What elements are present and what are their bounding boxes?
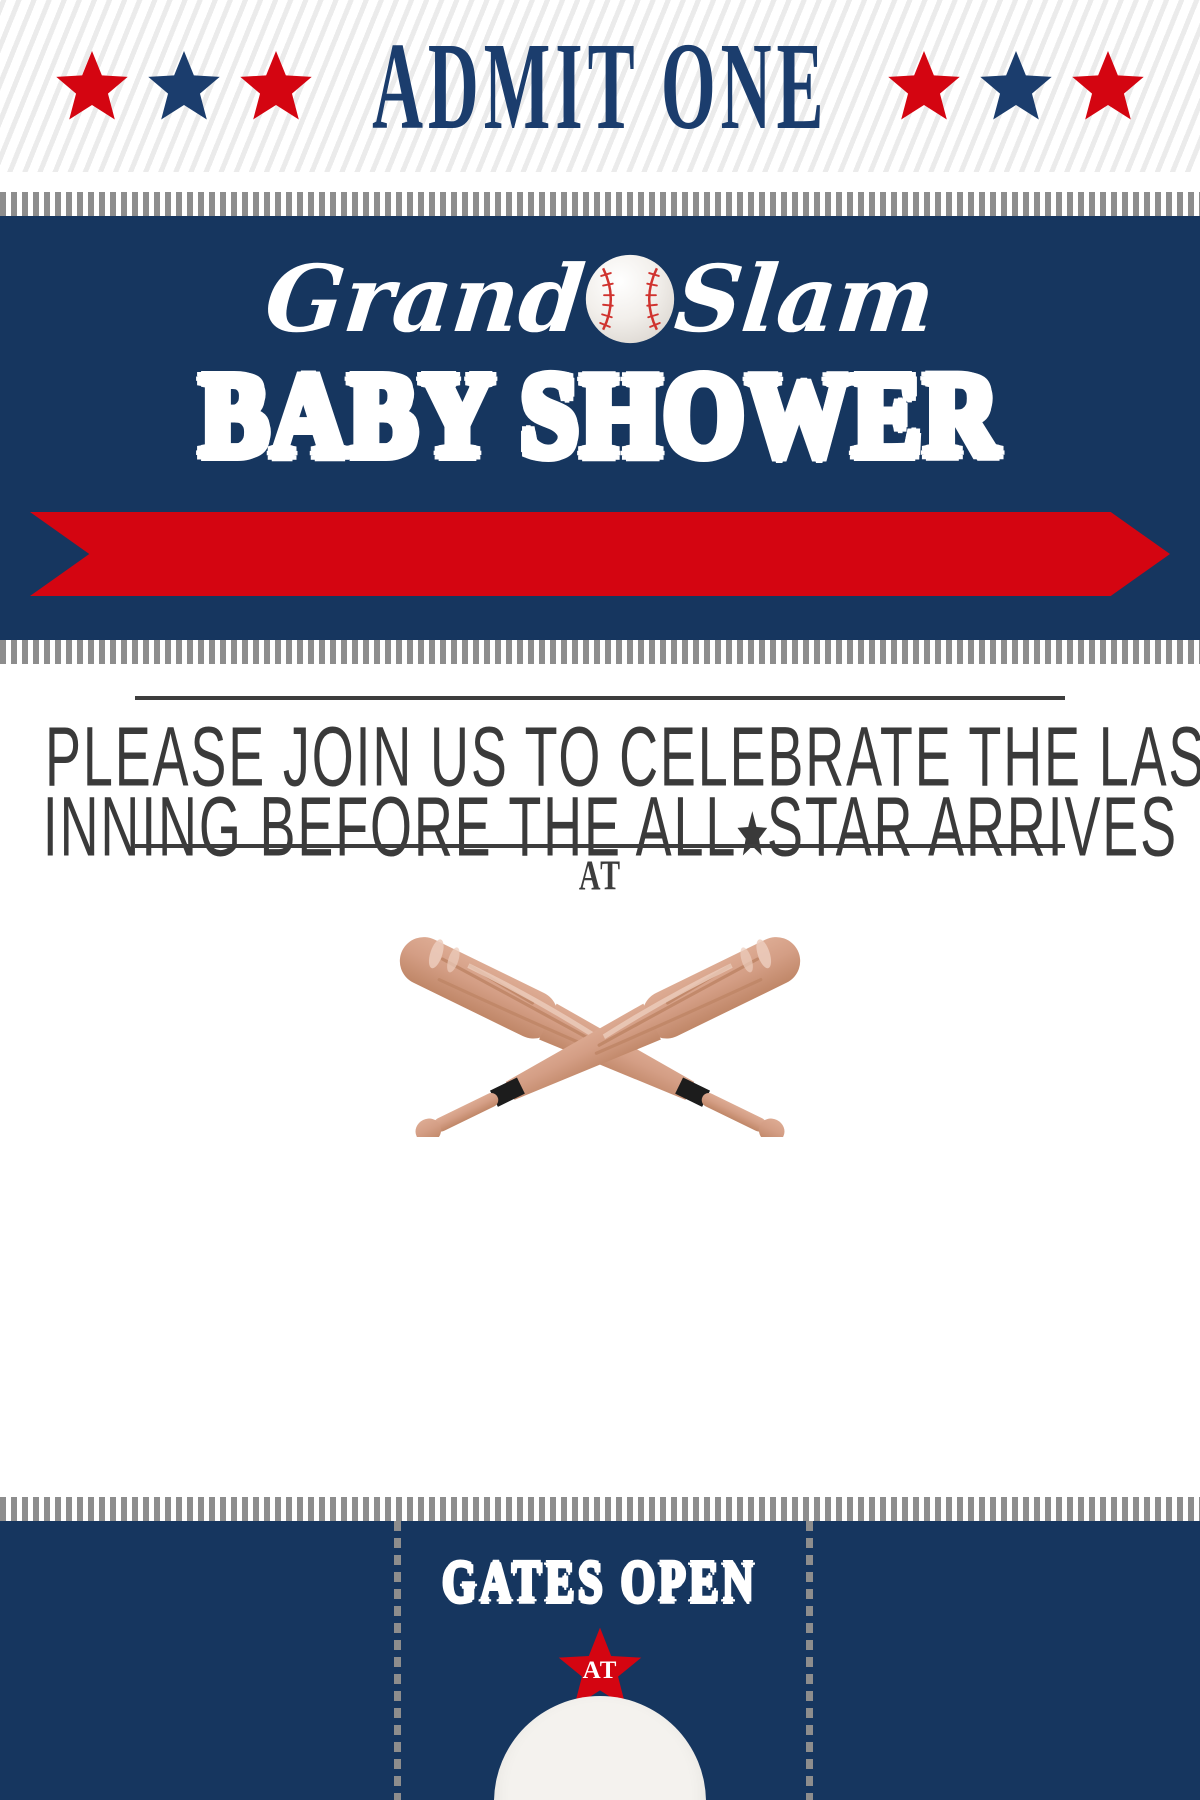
title-block: Grand <box>0 216 1200 640</box>
baby-shower-label: BABY SHOWER <box>199 356 1000 476</box>
script-word-grand: Grand <box>261 253 589 345</box>
admit-one-label: ADMIT ONE <box>365 24 834 149</box>
body-section: PLEASE JOIN US TO CELEBRATE THE LAST INN… <box>0 664 1200 1497</box>
tick-divider-bottom <box>0 1497 1200 1521</box>
star-red-3-icon <box>886 48 962 124</box>
tick-divider-middle <box>0 640 1200 664</box>
body-line-2: INNING BEFORE THE ALLSTAR ARRIVES <box>0 786 1200 844</box>
star-red-1-icon <box>54 48 130 124</box>
gates-open-stub: GATES OPEN AT <box>0 1521 1200 1800</box>
red-ribbon-banner <box>30 512 1170 596</box>
star-red-4-icon <box>1070 48 1146 124</box>
gates-open-label: GATES OPEN <box>442 1552 757 1612</box>
script-word-slam: Slam <box>671 253 939 345</box>
grand-slam-script: Grand <box>0 234 1200 364</box>
at-label-body: AT <box>0 860 1200 894</box>
star-icon <box>736 809 768 858</box>
header-stars-right <box>886 48 1146 124</box>
header-stars-left <box>54 48 314 124</box>
invitation-ticket: ADMIT ONE Grand <box>0 0 1200 1800</box>
baseball-icon <box>582 251 678 347</box>
star-navy-2-icon <box>978 48 1054 124</box>
body-line-1: PLEASE JOIN US TO CELEBRATE THE LAST <box>0 716 1200 774</box>
crossed-baseball-bats-icon <box>270 937 930 1137</box>
baby-shower-heading: BABY SHOWER <box>0 364 1200 468</box>
rule-below-text <box>135 844 1065 848</box>
crossed-bats-graphic <box>0 932 1200 1142</box>
star-red-2-icon <box>238 48 314 124</box>
at-label-body-text: AT <box>579 856 622 899</box>
tick-divider-top <box>0 192 1200 216</box>
star-navy-1-icon <box>146 48 222 124</box>
bottom-baseball-icon <box>494 1696 706 1800</box>
gates-open-heading: GATES OPEN <box>0 1559 1200 1605</box>
rule-above-text <box>135 696 1065 700</box>
admit-one-header: ADMIT ONE <box>0 0 1200 172</box>
